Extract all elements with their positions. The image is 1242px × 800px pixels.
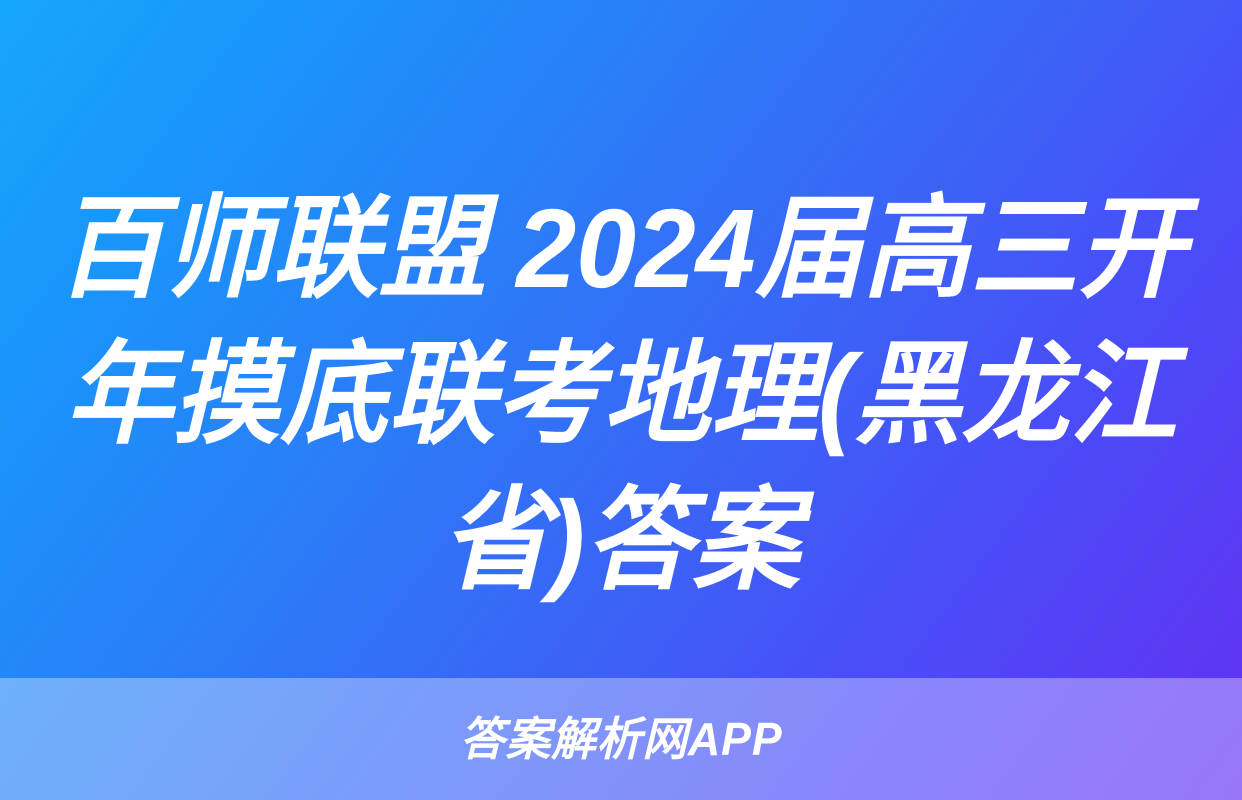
footer-brand-band: 答案解析网APP (0, 678, 1242, 800)
poster-title-line-2: 年摸底联考地理(黑龙江 (38, 322, 1203, 468)
poster-title-line-1: 百师联盟 2024届高三开 (38, 176, 1203, 322)
poster-title-block: 百师联盟 2024届高三开 年摸底联考地理(黑龙江 省)答案 (0, 176, 1242, 626)
footer-brand-label: 答案解析网APP (460, 716, 783, 762)
poster-title-line-3: 省)答案 (442, 468, 800, 614)
answer-poster: 百师联盟 2024届高三开 年摸底联考地理(黑龙江 省)答案 答案解析网APP (0, 0, 1242, 800)
